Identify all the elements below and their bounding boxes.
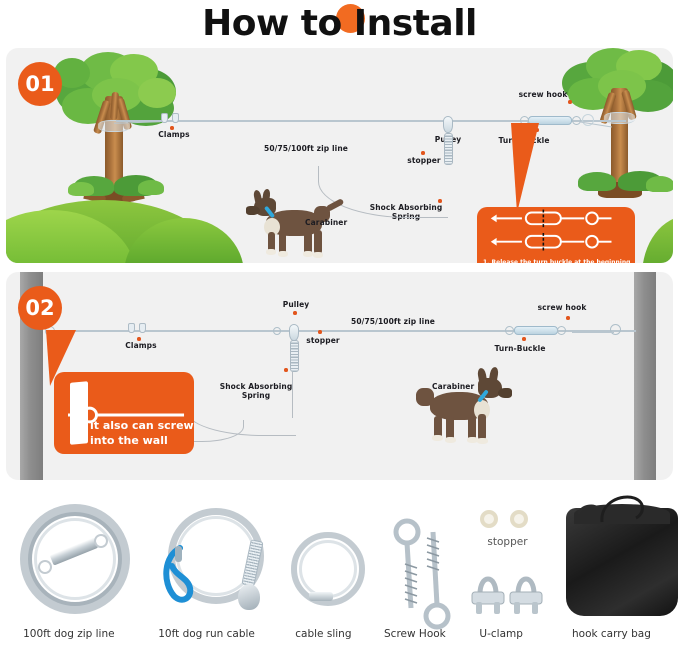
callout-line-1: 1. Release the turn buckle at the beginn… [483,259,630,263]
label-zipline-02: 50/75/100ft zip line [351,317,435,326]
label-spring-02-line2: Spring [242,391,270,400]
label-zipline-01: 50/75/100ft zip line [264,144,348,153]
turnbuckle-instructions-callout: 1. Release the turn buckle at the beginn… [477,207,635,263]
product-screw-hook-art [371,488,458,628]
install-step-panel-01: 01 [6,48,673,263]
pulley-01 [443,116,453,133]
product-run-cable-art [138,488,276,628]
product-cable-sling: cable sling [275,488,371,645]
wall-callout-text: it also can screw into the wall [90,418,194,448]
shock-absorbing-spring-01 [444,133,453,165]
wall-callout-line-2: into the wall [90,434,168,447]
callout-tail-01 [511,123,539,213]
label-turnbuckle-02: Turn-Buckle [494,344,545,353]
callout-instructions-01: 1. Release the turn buckle at the beginn… [483,259,629,263]
label-spring-02-line1: Shock Absorbing [220,382,293,391]
pulley-02 [289,324,299,341]
install-step-panel-02: 02 Clamps Pulley stopper Shock Absorbing… [6,272,673,480]
product-carry-bag: hook carry bag [544,488,679,645]
product-sub-label-stopper: stopper [487,536,527,548]
page-header: How to Install [0,0,679,46]
label-pulley-02: Pulley [283,300,310,309]
product-label-run-cable: 10ft dog run cable [158,628,255,645]
page-title: How to Install [202,3,477,44]
turnbuckle-02 [514,326,558,335]
marker-stopper-02 [318,330,322,334]
label-carabiner-01: Carabiner [305,218,347,227]
drawstring-icon [564,492,679,526]
label-screw-hook-02: screw hook [538,303,587,312]
tree-right-cable-wrap [604,112,635,124]
product-run-cable: 10ft dog run cable [138,488,276,645]
marker-screw-hook-01 [568,100,572,104]
carabiner-icon [158,544,198,608]
product-carry-bag-art [544,488,679,628]
wall-callout-line-1: it also can screw [90,419,194,432]
label-clamps-02: Clamps [125,341,156,350]
product-cable-sling-art [275,488,371,628]
stopper-ring-right [510,510,528,528]
label-screw-hook-01: screw hook [519,90,568,99]
label-stopper-01: stopper [407,156,440,165]
label-carabiner-02: Carabiner [432,382,474,391]
screw-hooks-icon [379,516,469,636]
marker-stopper-01 [421,151,425,155]
stopper-ring-left [480,510,498,528]
product-label-cable-sling: cable sling [295,628,351,645]
product-components-strip: 100ft dog zip line 10ft dog run cable ca… [0,488,679,645]
marker-screw-hook-02 [566,316,570,320]
product-label-carry-bag: hook carry bag [572,628,651,645]
product-screw-hook: Screw Hook [371,488,458,645]
step-badge-01: 01 [18,62,62,106]
label-clamps-01: Clamps [158,130,189,139]
product-zip-line-art [0,488,138,628]
product-u-clamp-art: stopper [458,488,543,628]
product-label-u-clamp: U-clamp [479,628,523,645]
step-badge-02: 02 [18,286,62,330]
u-clamp-icon [466,560,552,616]
label-stopper-02: stopper [306,336,339,345]
product-u-clamp: stopper U-clamp [458,488,543,645]
product-label-zip-line: 100ft dog zip line [23,628,114,645]
product-zip-line: 100ft dog zip line [0,488,138,645]
shock-absorbing-spring-02 [290,340,299,372]
wall-pillar-right [634,272,656,480]
turnbuckle-diagram-icon [483,209,629,253]
wall-mount-callout: it also can screw into the wall [54,372,194,454]
